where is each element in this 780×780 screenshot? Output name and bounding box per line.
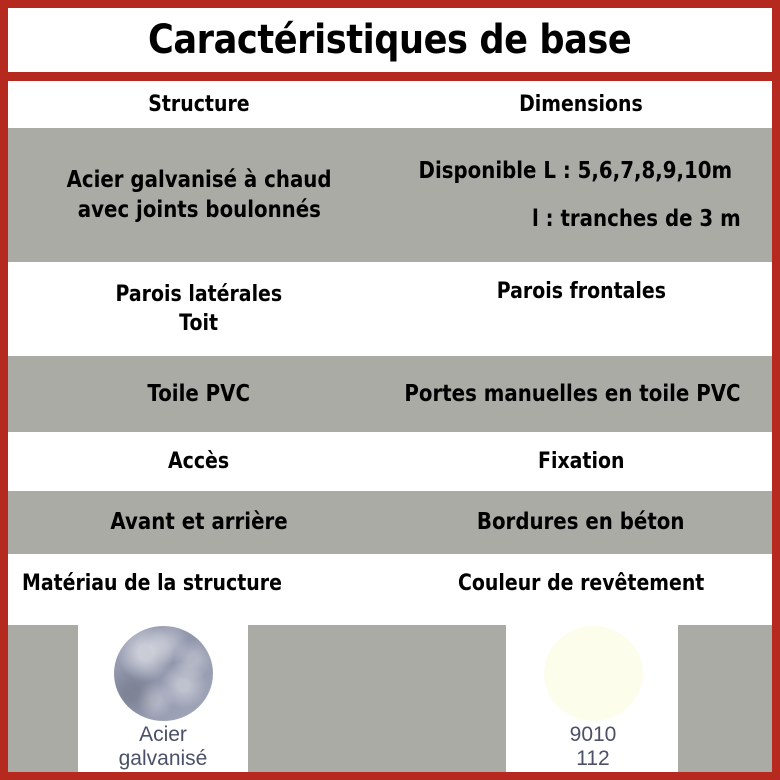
cell-text: Acier galvanisé à chaud [67, 165, 332, 195]
swatch-row-filler-middle [248, 625, 506, 772]
cell-access-value: Avant et arrière [8, 491, 390, 554]
cell-text: Portes manuelles en toile PVC [404, 379, 740, 409]
cell-fixing-header: Fixation [390, 432, 772, 491]
coating-swatch-label: 9010 112 [570, 723, 617, 770]
table-row: Acier galvanisé à chaud avec joints boul… [8, 128, 772, 262]
cell-text: Accès [168, 447, 229, 476]
coating-label-line2: 112 [576, 747, 609, 770]
swatch-row-filler-right [678, 625, 772, 772]
cell-text: Toile PVC [148, 379, 251, 409]
cell-text: Structure [148, 90, 249, 119]
steel-label-line1: Acier [139, 723, 187, 746]
cell-text: Toit [180, 309, 219, 338]
cell-walls-value: Toile PVC [8, 356, 390, 432]
table-row: Avant et arrière Bordures en béton [8, 491, 772, 554]
cell-dimensions-value: Disponible L : 5,6,7,8,9,10m l : tranche… [390, 128, 772, 262]
spec-table-card: Caractéristiques de base Structure Dimen… [0, 0, 780, 780]
cell-text: Parois frontales [496, 277, 665, 306]
coating-label-line1: 9010 [570, 723, 617, 746]
cell-material-header: Matériau de la structure [8, 554, 390, 613]
cell-structure-header: Structure [8, 81, 390, 128]
steel-swatch-label: Acier galvanisé [119, 723, 208, 770]
swatch-row-filler-left [8, 625, 78, 772]
cell-fixing-value: Bordures en béton [390, 491, 772, 554]
cell-walls-header: Parois latérales Toit [8, 262, 390, 356]
cell-text: Matériau de la structure [22, 569, 282, 598]
swatch-row: Acier galvanisé 9010 112 [8, 619, 772, 772]
cell-front-walls-value: Portes manuelles en toile PVC [390, 356, 772, 432]
title-divider-rule [8, 72, 772, 81]
cell-dimensions-header: Dimensions [390, 81, 772, 128]
coating-swatch[interactable]: 9010 112 [508, 619, 678, 772]
cell-access-header: Accès [8, 432, 390, 491]
cell-text: Couleur de revêtement [458, 569, 704, 598]
cell-coating-header: Couleur de revêtement [390, 554, 772, 613]
steel-swatch[interactable]: Acier galvanisé [78, 619, 248, 772]
table-row: Toile PVC Portes manuelles en toile PVC [8, 356, 772, 432]
cell-text: Dimensions [519, 90, 643, 119]
steel-label-line2: galvanisé [119, 747, 208, 770]
page-title: Caractéristiques de base [148, 17, 631, 63]
table-row: Structure Dimensions [8, 81, 772, 128]
cell-structure-value: Acier galvanisé à chaud avec joints boul… [8, 128, 390, 262]
table-row: Parois latérales Toit Parois frontales [8, 262, 772, 356]
table-row: Accès Fixation [8, 432, 772, 491]
steel-color-disc [114, 626, 213, 721]
coating-color-disc [544, 626, 643, 721]
cell-text: Fixation [538, 447, 624, 476]
cell-text: l : tranches de 3 m [532, 204, 741, 234]
table-row: Matériau de la structure Couleur de revê… [8, 554, 772, 613]
cell-text: Bordures en béton [477, 507, 685, 537]
card-title-band: Caractéristiques de base [8, 8, 772, 72]
cell-text: Parois latérales [116, 280, 283, 309]
cell-text: Disponible L : 5,6,7,8,9,10m [419, 156, 733, 186]
cell-front-walls-header: Parois frontales [390, 262, 772, 356]
cell-text: avec joints boulonnés [77, 195, 320, 225]
cell-text: Avant et arrière [110, 507, 287, 537]
